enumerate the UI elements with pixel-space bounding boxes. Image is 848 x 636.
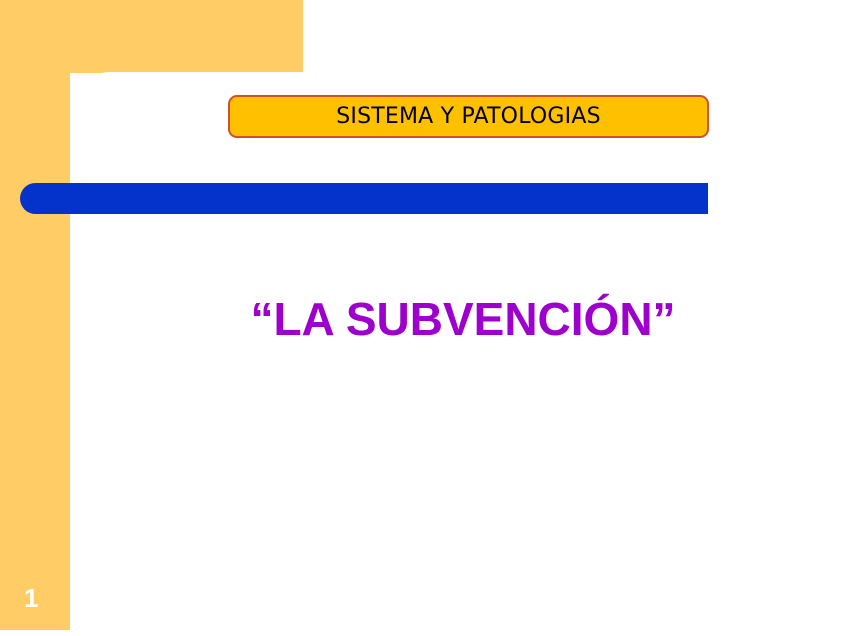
slide-title: “LA SUBVENCIÓN” — [78, 292, 848, 346]
slide-banner-label: SISTEMA Y PATOLOGIAS — [336, 104, 601, 129]
decorative-blue-rule — [20, 183, 708, 214]
decorative-yellow-sidebar — [0, 0, 70, 630]
slide-content-card — [78, 72, 848, 636]
slide-banner: SISTEMA Y PATOLOGIAS — [228, 95, 709, 138]
slide-number: 1 — [24, 585, 38, 611]
presentation-slide: SISTEMA Y PATOLOGIAS “LA SUBVENCIÓN” 1 — [0, 0, 848, 636]
